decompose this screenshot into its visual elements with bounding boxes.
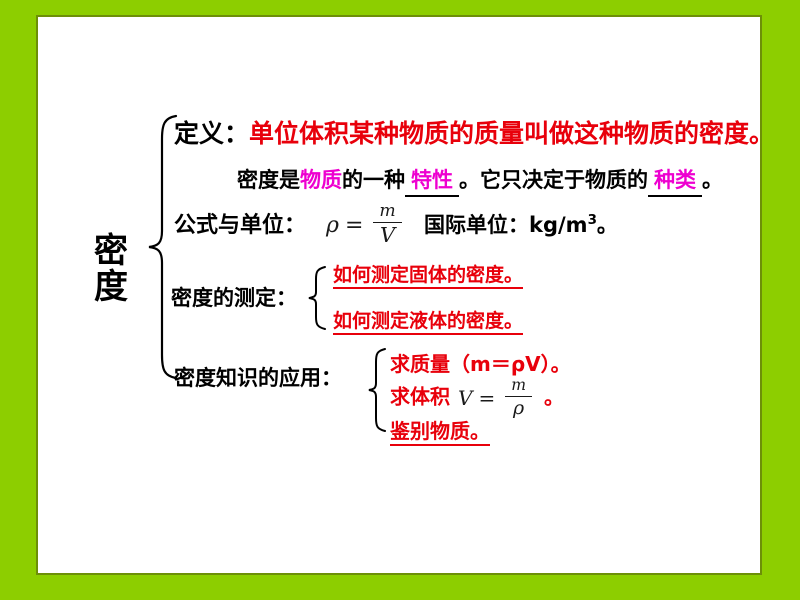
formula-density-equation: ρ = m V [326, 203, 406, 247]
definition-text: 单位体积某种物质的质量叫做这种物质的密度。 [249, 119, 774, 148]
formula-rho-symbol: ρ [326, 213, 339, 238]
topic-title-char-1: 密 [94, 233, 128, 269]
volume-denominator: ρ [507, 399, 530, 419]
main-brace-icon [146, 113, 180, 381]
measurement-item-liquid-label: 如何测定液体的密度。 [333, 310, 523, 335]
volume-numerator: m [505, 378, 532, 394]
unit-exponent: 3 [588, 213, 597, 228]
topic-title-char-2: 度 [94, 269, 128, 305]
measurement-brace-icon [306, 265, 328, 331]
note-part-3: 。它只决定于物质的 [459, 168, 648, 192]
application-item-identify-label: 鉴别物质。 [390, 419, 490, 446]
application-item-volume-label: 求体积 [390, 385, 450, 409]
note-blank-property: 特性 [405, 164, 459, 197]
application-item-volume: 求体积 V = m ρ 。 [390, 378, 564, 419]
volume-symbol: V [458, 386, 472, 410]
application-item-mass: 求质量（m＝ρV）。 [390, 348, 571, 377]
volume-equals: = [478, 386, 495, 410]
measurement-item-solid[interactable]: 如何测定固体的密度。 [333, 260, 523, 287]
formula-fraction: m V [373, 203, 401, 247]
unit-value: kg/m [529, 213, 588, 237]
volume-period: 。 [544, 385, 564, 409]
note-part-1: 密度是 [237, 168, 300, 192]
formula-denominator: V [374, 225, 401, 247]
formula-numerator: m [373, 203, 401, 220]
formula-label-row: 公式与单位： [174, 207, 306, 239]
volume-fraction: m ρ [505, 378, 532, 419]
measurement-item-solid-label: 如何测定固体的密度。 [333, 264, 523, 289]
note-part-2: 的一种 [342, 168, 405, 192]
application-label: 密度知识的应用： [174, 362, 342, 392]
topic-title: 密 度 [94, 233, 128, 305]
formula-unit-row: 国际单位：kg/m3。 [424, 209, 618, 239]
application-brace-icon [366, 347, 388, 433]
slide: 密 度 定义：单位体积某种物质的质量叫做这种物质的密度。 密度是物质的一种特性。… [0, 0, 800, 600]
application-item-identify[interactable]: 鉴别物质。 [390, 415, 490, 444]
volume-equation: V = m ρ [458, 378, 536, 419]
measurement-label: 密度的测定： [171, 282, 297, 312]
definition-row: 定义：单位体积某种物质的质量叫做这种物质的密度。 [174, 114, 774, 150]
note-part-4: 。 [702, 168, 723, 192]
note-highlight-substance: 物质 [300, 168, 342, 192]
unit-period: 。 [597, 213, 618, 237]
definition-note-row: 密度是物质的一种特性。它只决定于物质的种类。 [237, 164, 723, 197]
slide-content-area: 密 度 定义：单位体积某种物质的质量叫做这种物质的密度。 密度是物质的一种特性。… [38, 17, 760, 573]
definition-label: 定义： [174, 119, 249, 148]
unit-label: 国际单位： [424, 213, 529, 237]
note-blank-kind: 种类 [648, 164, 702, 197]
formula-equals: = [345, 213, 363, 238]
formula-label: 公式与单位： [174, 213, 306, 238]
measurement-item-liquid[interactable]: 如何测定液体的密度。 [333, 306, 523, 333]
